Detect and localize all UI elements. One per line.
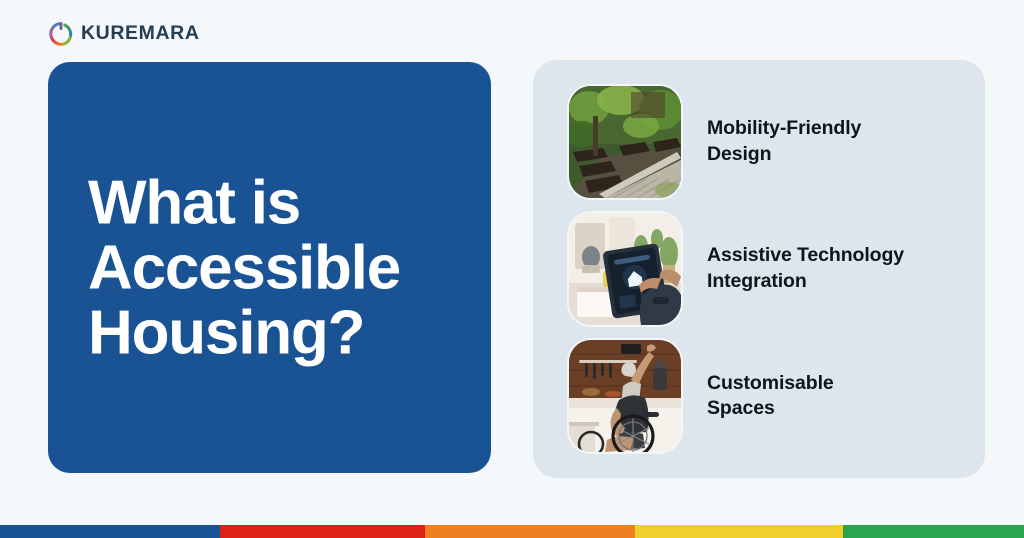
feature-label: Mobility-Friendly Design xyxy=(707,116,861,167)
footer-color-bar xyxy=(0,525,1024,538)
brand-name: KUREMARA xyxy=(81,24,200,44)
list-item[interactable]: Assistive Technology Integration xyxy=(533,211,985,327)
feature-label: Customisable Spaces xyxy=(707,371,834,422)
feature-panel: Mobility-Friendly Design xyxy=(533,60,985,478)
page-title: What is Accessible Housing? xyxy=(88,170,473,365)
hero-card: What is Accessible Housing? xyxy=(48,62,491,473)
feature-image-customisable-spaces xyxy=(569,340,681,452)
footer-color-segment-green xyxy=(843,525,1024,538)
feature-image-assistive-technology-integration xyxy=(569,213,681,325)
kuremara-swirl-logo-icon xyxy=(48,21,74,47)
feature-label: Assistive Technology Integration xyxy=(707,243,904,294)
footer-color-segment-orange xyxy=(425,525,635,538)
feature-image-mobility-friendly-design xyxy=(569,86,681,198)
footer-color-segment-red xyxy=(220,525,425,538)
footer-color-segment-yellow xyxy=(635,525,843,538)
list-item[interactable]: Customisable Spaces xyxy=(533,338,985,454)
list-item[interactable]: Mobility-Friendly Design xyxy=(533,84,985,200)
brand-logo: KUREMARA xyxy=(48,20,200,48)
footer-color-segment-blue xyxy=(0,525,220,538)
